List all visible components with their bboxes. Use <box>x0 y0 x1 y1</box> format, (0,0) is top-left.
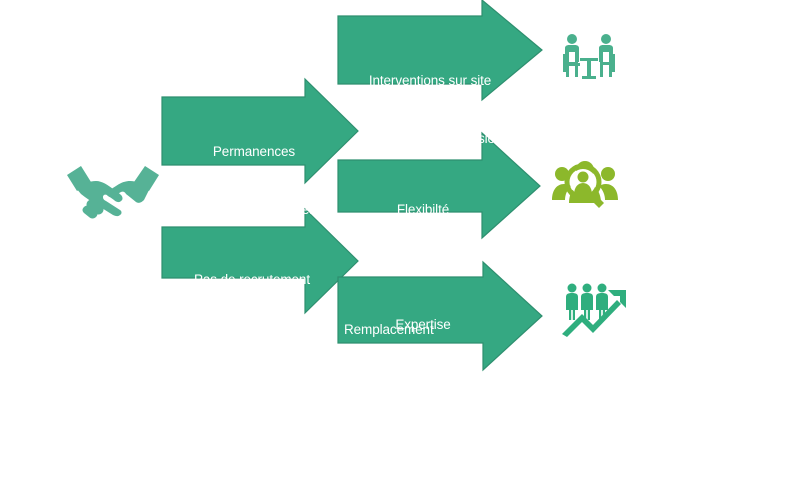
arrow-label-line: par téléphone ou visio <box>350 129 510 148</box>
arrow-label-line: service social pérenne <box>344 435 544 454</box>
arrow-label-line: Permanences <box>166 142 342 161</box>
arrow-label-line: Souplesse <box>348 258 498 277</box>
arrow-label-line: Remplacement <box>344 320 544 339</box>
people-magnifier-icon <box>552 158 618 210</box>
diagram-canvas: Interventions sur site par téléphone ou … <box>0 0 800 450</box>
arrow-label-pas-de-recrutement: Pas de recrutement ni de charges sociale… <box>164 232 340 385</box>
people-growth-arrow-icon <box>560 282 630 338</box>
arrow-label-line: ponctuelles ou régulières <box>166 200 342 219</box>
arrow-label-line: Aide au recrutement pour un <box>344 378 544 397</box>
arrow-label-line: ni de charges sociales <box>164 328 340 347</box>
arrow-label-line: Flexibilté <box>348 200 498 219</box>
arrow-label-line: Interventions sur site <box>350 71 510 90</box>
two-people-at-table-icon <box>558 32 620 84</box>
arrow-label-remplacement: Remplacement Aide au recrutement pour un… <box>344 282 544 493</box>
arrow-label-line: Pas de recrutement <box>164 270 340 289</box>
handshake-icon <box>64 158 162 220</box>
